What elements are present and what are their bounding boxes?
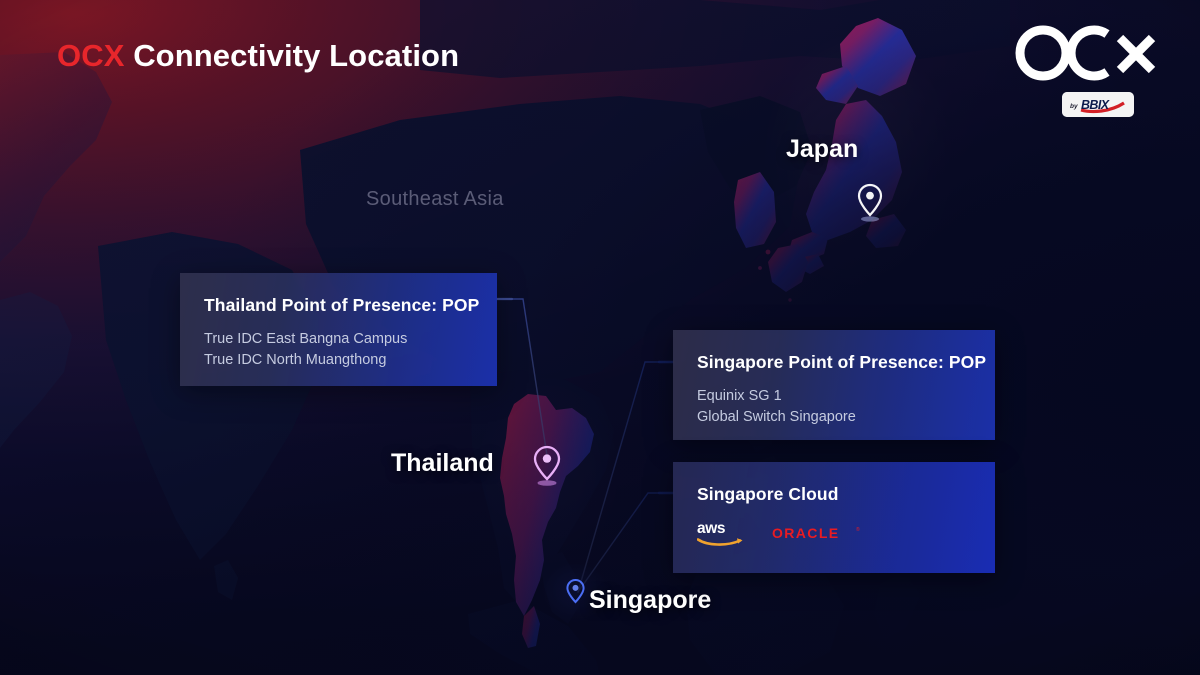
ocx-logo[interactable]: by BBIX — [1012, 20, 1162, 124]
country-label-japan: Japan — [786, 135, 858, 164]
slide-canvas: OCX Connectivity Location by BBIX Southe… — [0, 0, 1200, 675]
card-line: Equinix SG 1 — [697, 386, 971, 407]
location-pin-icon — [565, 578, 586, 605]
country-label-singapore: Singapore — [589, 586, 711, 615]
oracle-logo-text: ORACLE — [772, 525, 840, 541]
oracle-trademark: ® — [856, 526, 860, 533]
card-line: True IDC North Muangthong — [204, 350, 473, 371]
oracle-logo: ORACLE ® — [772, 525, 860, 541]
bbix-badge-name: BBIX — [1081, 98, 1110, 112]
location-pin-singapore[interactable] — [565, 578, 586, 605]
location-pin-icon — [531, 444, 563, 486]
bbix-badge-prefix: by — [1070, 103, 1078, 110]
aws-logo-text: aws — [697, 520, 725, 537]
location-pin-icon — [855, 182, 885, 222]
location-pin-japan[interactable] — [855, 182, 885, 222]
card-title: Thailand Point of Presence: POP — [204, 295, 473, 316]
info-card-thailand-pop[interactable]: Thailand Point of Presence: POP True IDC… — [180, 273, 497, 386]
card-title: Singapore Cloud — [697, 484, 971, 505]
info-card-singapore-cloud[interactable]: Singapore Cloud aws ORACLE ® — [673, 462, 995, 573]
location-pin-thailand[interactable] — [531, 444, 563, 486]
page-title: OCX Connectivity Location — [57, 38, 459, 74]
bbix-badge-art: by BBIX — [1062, 92, 1134, 117]
card-line: True IDC East Bangna Campus — [204, 329, 473, 350]
country-label-thailand: Thailand — [391, 449, 494, 478]
card-title: Singapore Point of Presence: POP — [697, 352, 971, 373]
card-line: Global Switch Singapore — [697, 407, 971, 428]
title-brand: OCX — [57, 38, 124, 73]
region-watermark-southeast-asia: Southeast Asia — [366, 188, 504, 211]
cloud-provider-logos: aws ORACLE ® — [697, 518, 971, 547]
ocx-logo-mark — [1012, 20, 1162, 92]
aws-logo: aws — [697, 518, 745, 547]
bbix-badge: by BBIX — [1062, 92, 1134, 117]
info-card-singapore-pop[interactable]: Singapore Point of Presence: POP Equinix… — [673, 330, 995, 440]
title-rest: Connectivity Location — [124, 38, 459, 73]
